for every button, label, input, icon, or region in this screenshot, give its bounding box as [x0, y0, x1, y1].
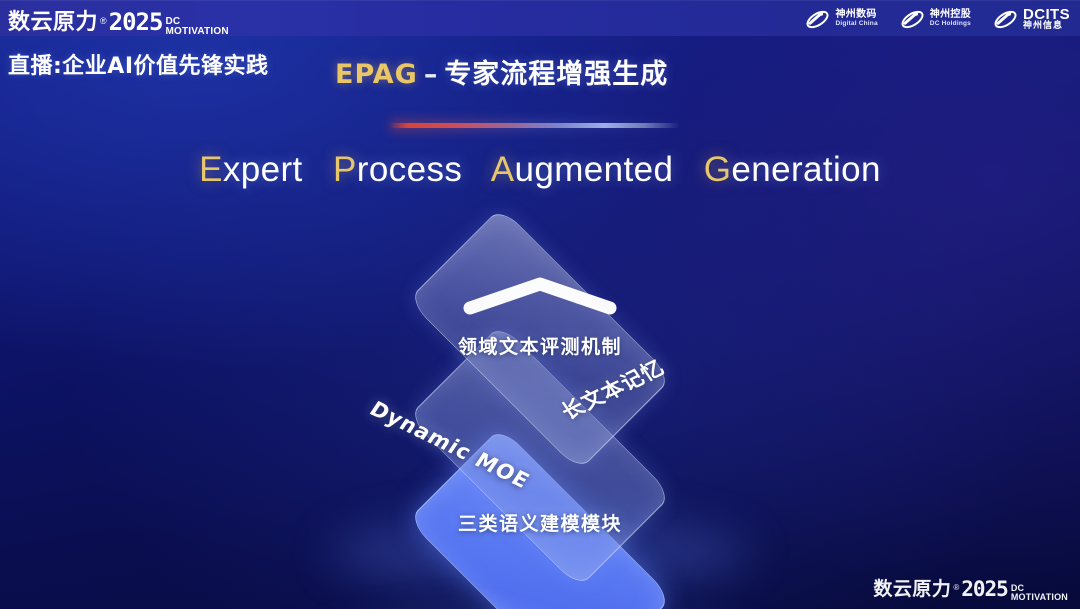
event-logo-cn: 数云原力 [8, 4, 98, 36]
watermark-logo-cn: 数云原力 [873, 574, 951, 601]
layer-plate-top[interactable] [419, 218, 661, 460]
partner-logo-dc-holdings: 神州控股 DC Holdings [900, 7, 971, 32]
watermark-logo-year: 2025 [961, 577, 1008, 601]
expansion-word-initial: P [333, 150, 357, 189]
layer-stack-diagram [0, 218, 1080, 598]
event-logo-motivation: MOTIVATION [165, 27, 228, 36]
expansion-word-initial: E [199, 150, 223, 189]
expansion-word: Expert [199, 150, 303, 189]
partner-name-en: DCITS [1023, 7, 1070, 22]
page-title-dash: – [418, 59, 445, 90]
partner-name-cn: 神州信息 [1023, 22, 1070, 31]
top-bar: 数云原力 ® 2025 DC MOTIVATION 神州数码 [0, 0, 1080, 36]
partner-name-en: Digital China [835, 21, 877, 28]
gradient-divider [390, 123, 680, 128]
expansion-word-rest: eneration [731, 150, 881, 189]
partner-logo-dcits: DCITS 神州信息 [993, 7, 1070, 32]
page-title: EPAG–专家流程增强生成 [335, 52, 668, 91]
partner-logo-group: 神州数码 Digital China 神州控股 DC Holdings [805, 5, 1070, 33]
swoosh-icon [805, 7, 830, 32]
expansion-word: Generation [704, 150, 881, 189]
expansion-space [683, 150, 693, 189]
registered-mark: ® [100, 16, 107, 26]
event-logo: 数云原力 ® 2025 DC MOTIVATION [8, 4, 229, 36]
expansion-word-rest: ugmented [514, 150, 673, 189]
partner-label-group: DCITS 神州信息 [1023, 7, 1070, 31]
partner-label-group: 神州数码 Digital China [835, 10, 877, 27]
event-logo-dc-block: DC MOTIVATION [165, 17, 228, 36]
slide-canvas: 数云原力 ® 2025 DC MOTIVATION 神州数码 [0, 0, 1080, 609]
watermark-registered-mark: ® [953, 583, 959, 592]
expansion-word-initial: A [491, 150, 515, 189]
expansion-word: Augmented [491, 150, 674, 189]
page-title-acronym: EPAG [335, 59, 418, 90]
watermark-motivation: MOTIVATION [1011, 593, 1068, 601]
expansion-word: Process [333, 150, 462, 189]
partner-name-en: DC Holdings [930, 21, 971, 28]
expansion-space [472, 150, 482, 189]
expansion-word-initial: G [704, 150, 732, 189]
expansion-line: Expert Process Augmented Generation [0, 150, 1080, 190]
broadcast-subtitle: 直播:企业AI价值先锋实践 [8, 48, 269, 80]
page-title-cn: 专家流程增强生成 [444, 59, 668, 90]
watermark-dc-block: DC MOTIVATION [1011, 584, 1068, 601]
partner-label-group: 神州控股 DC Holdings [930, 10, 971, 27]
swoosh-icon [993, 7, 1018, 32]
event-logo-year: 2025 [109, 8, 163, 36]
partner-logo-digital-china: 神州数码 Digital China [805, 7, 877, 32]
expansion-space [313, 150, 323, 189]
expansion-word-rest: rocess [357, 150, 463, 189]
expansion-word-rest: xpert [223, 150, 303, 189]
swoosh-icon [900, 7, 925, 32]
watermark-logo: 数云原力 ® 2025 DC MOTIVATION [873, 574, 1068, 601]
